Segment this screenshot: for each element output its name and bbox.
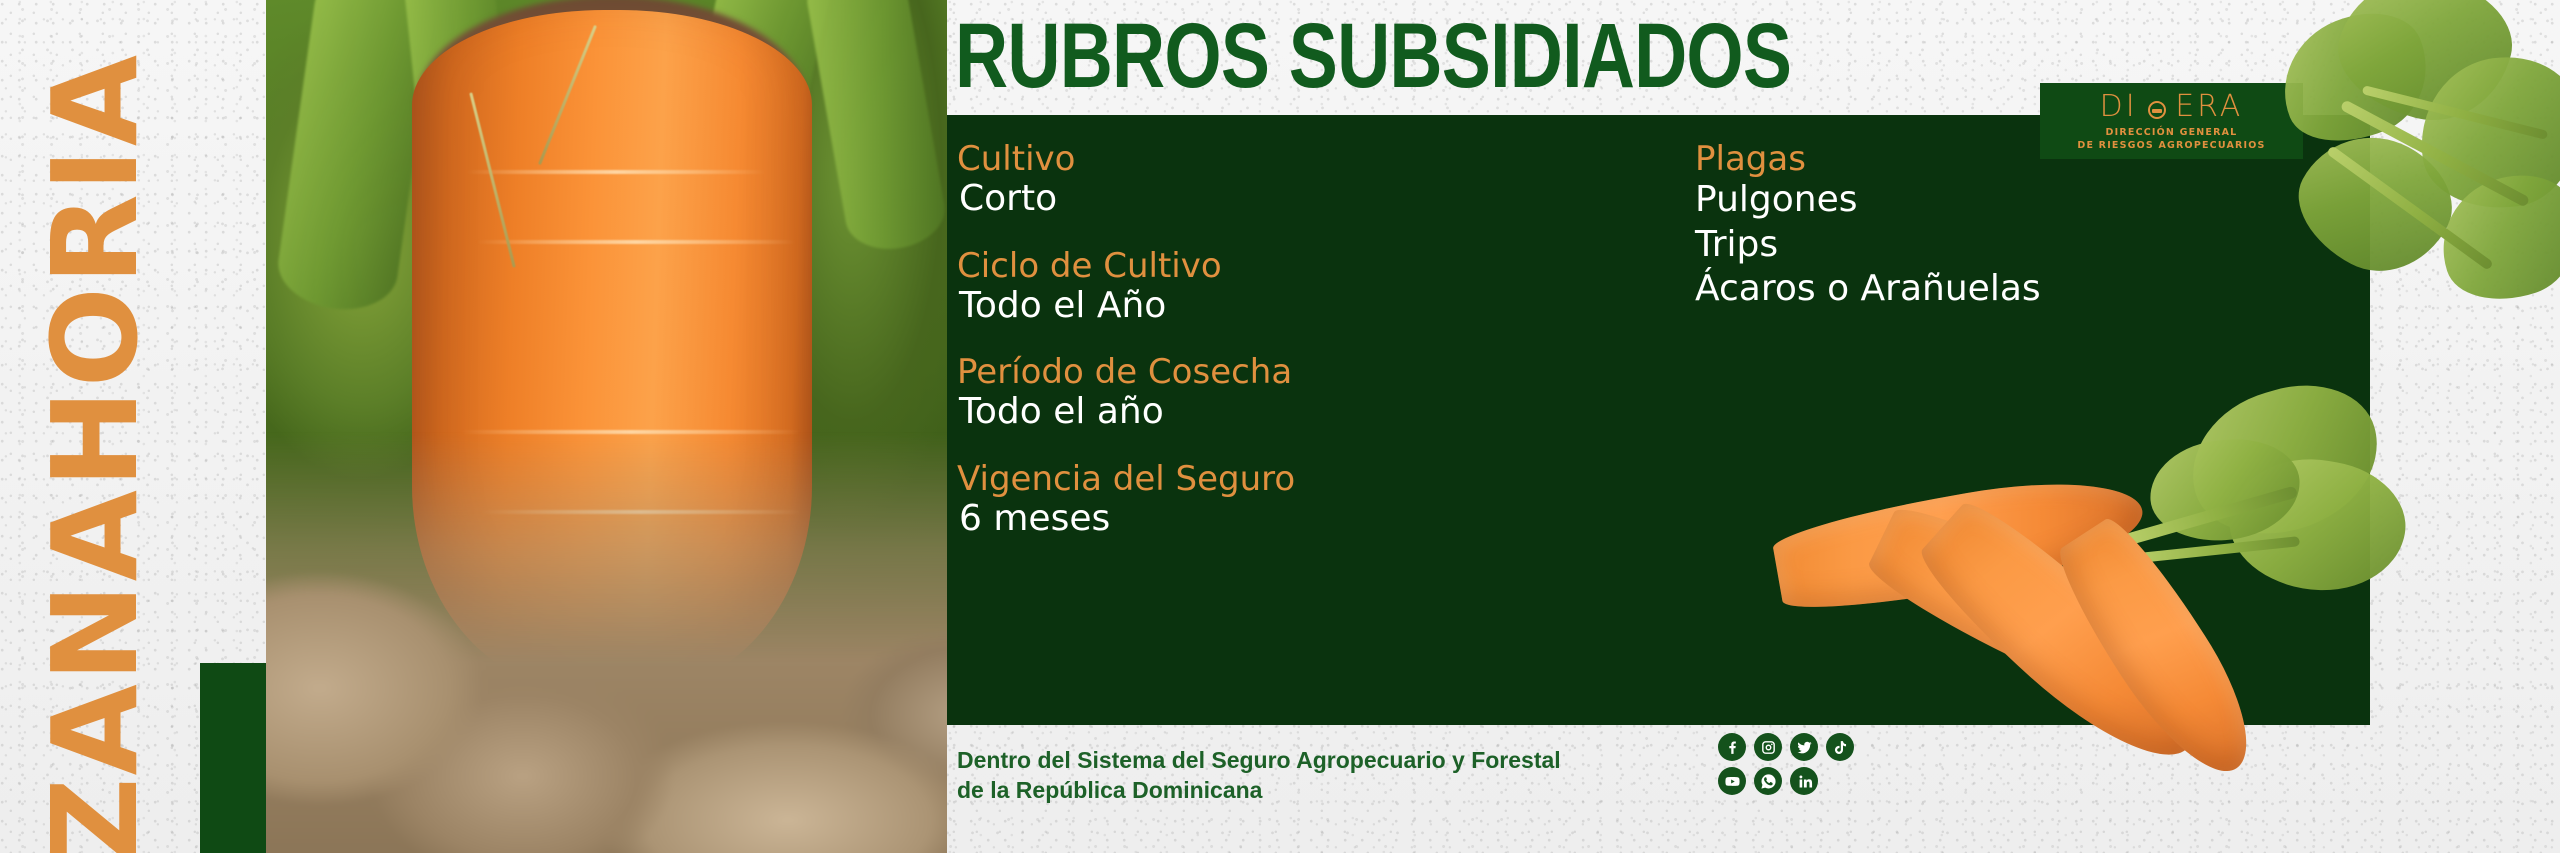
social-links bbox=[1718, 733, 1898, 801]
twitter-icon[interactable] bbox=[1790, 733, 1818, 761]
crop-name-vertical: ZANAHORIA bbox=[36, 8, 154, 853]
field-label: Vigencia del Seguro bbox=[957, 460, 1657, 498]
field-ciclo-de-cultivo: Ciclo de Cultivo Todo el Año bbox=[957, 247, 1657, 328]
foliage-stalk bbox=[2362, 85, 2549, 140]
logo-wordmark-end: ERA bbox=[2175, 89, 2243, 124]
youtube-icon[interactable] bbox=[1718, 767, 1746, 795]
field-label: Cultivo bbox=[957, 140, 1657, 178]
page-title: RUBROS SUBSIDIADOS bbox=[955, 10, 1791, 102]
social-row-2 bbox=[1718, 767, 1898, 795]
footnote: Dentro del Sistema del Seguro Agropecuar… bbox=[957, 745, 1561, 806]
photo-soil bbox=[266, 433, 947, 853]
linkedin-icon[interactable] bbox=[1790, 767, 1818, 795]
field-label: Período de Cosecha bbox=[957, 353, 1657, 391]
left-accent-bar bbox=[200, 663, 266, 853]
footnote-line2: de la República Dominicana bbox=[957, 775, 1561, 805]
pest-item: Trips bbox=[1695, 223, 2315, 268]
instagram-icon[interactable] bbox=[1754, 733, 1782, 761]
field-plagas: Plagas Pulgones Trips Ácaros o Arañuelas bbox=[1695, 140, 2315, 312]
logo-wordmark-start: DI bbox=[2100, 89, 2138, 124]
crop-details-column: Cultivo Corto Ciclo de Cultivo Todo el A… bbox=[957, 140, 1657, 566]
facebook-icon[interactable] bbox=[1718, 733, 1746, 761]
field-cultivo: Cultivo Corto bbox=[957, 140, 1657, 221]
field-vigencia-del-seguro: Vigencia del Seguro 6 meses bbox=[957, 460, 1657, 541]
tiktok-icon[interactable] bbox=[1826, 733, 1854, 761]
pest-item: Pulgones bbox=[1695, 178, 2315, 223]
field-label: Ciclo de Cultivo bbox=[957, 247, 1657, 285]
whatsapp-icon[interactable] bbox=[1754, 767, 1782, 795]
logo-subtitle-line2: DE RIESGOS AGROPECUARIOS bbox=[2040, 140, 2303, 151]
foliage-frond bbox=[2410, 48, 2560, 219]
carrot-ring bbox=[466, 170, 766, 174]
carrot-ring bbox=[476, 240, 796, 244]
logo-wordmark: DI ERA bbox=[2040, 89, 2303, 124]
banner-root: ZANAHORIA RUBROS SUBSIDIADOS Cultivo Cor… bbox=[0, 0, 2560, 853]
livestock-in-circle-icon bbox=[2148, 101, 2166, 119]
field-value: 6 meses bbox=[957, 498, 1657, 540]
field-value: Corto bbox=[957, 178, 1657, 220]
pests-column: Plagas Pulgones Trips Ácaros o Arañuelas bbox=[1695, 140, 2315, 338]
field-value: Todo el año bbox=[957, 391, 1657, 433]
footnote-line1: Dentro del Sistema del Seguro Agropecuar… bbox=[957, 745, 1561, 775]
field-value: Todo el Año bbox=[957, 285, 1657, 327]
digera-logo: DI ERA DIRECCIÓN GENERAL DE RIESGOS AGRO… bbox=[2040, 83, 2303, 159]
pest-item: Ácaros o Arañuelas bbox=[1695, 267, 2315, 312]
foliage-frond bbox=[2425, 159, 2560, 316]
field-periodo-de-cosecha: Período de Cosecha Todo el año bbox=[957, 353, 1657, 434]
crop-photo bbox=[266, 0, 947, 853]
social-row-1 bbox=[1718, 733, 1898, 761]
logo-subtitle-line1: DIRECCIÓN GENERAL bbox=[2040, 127, 2303, 138]
